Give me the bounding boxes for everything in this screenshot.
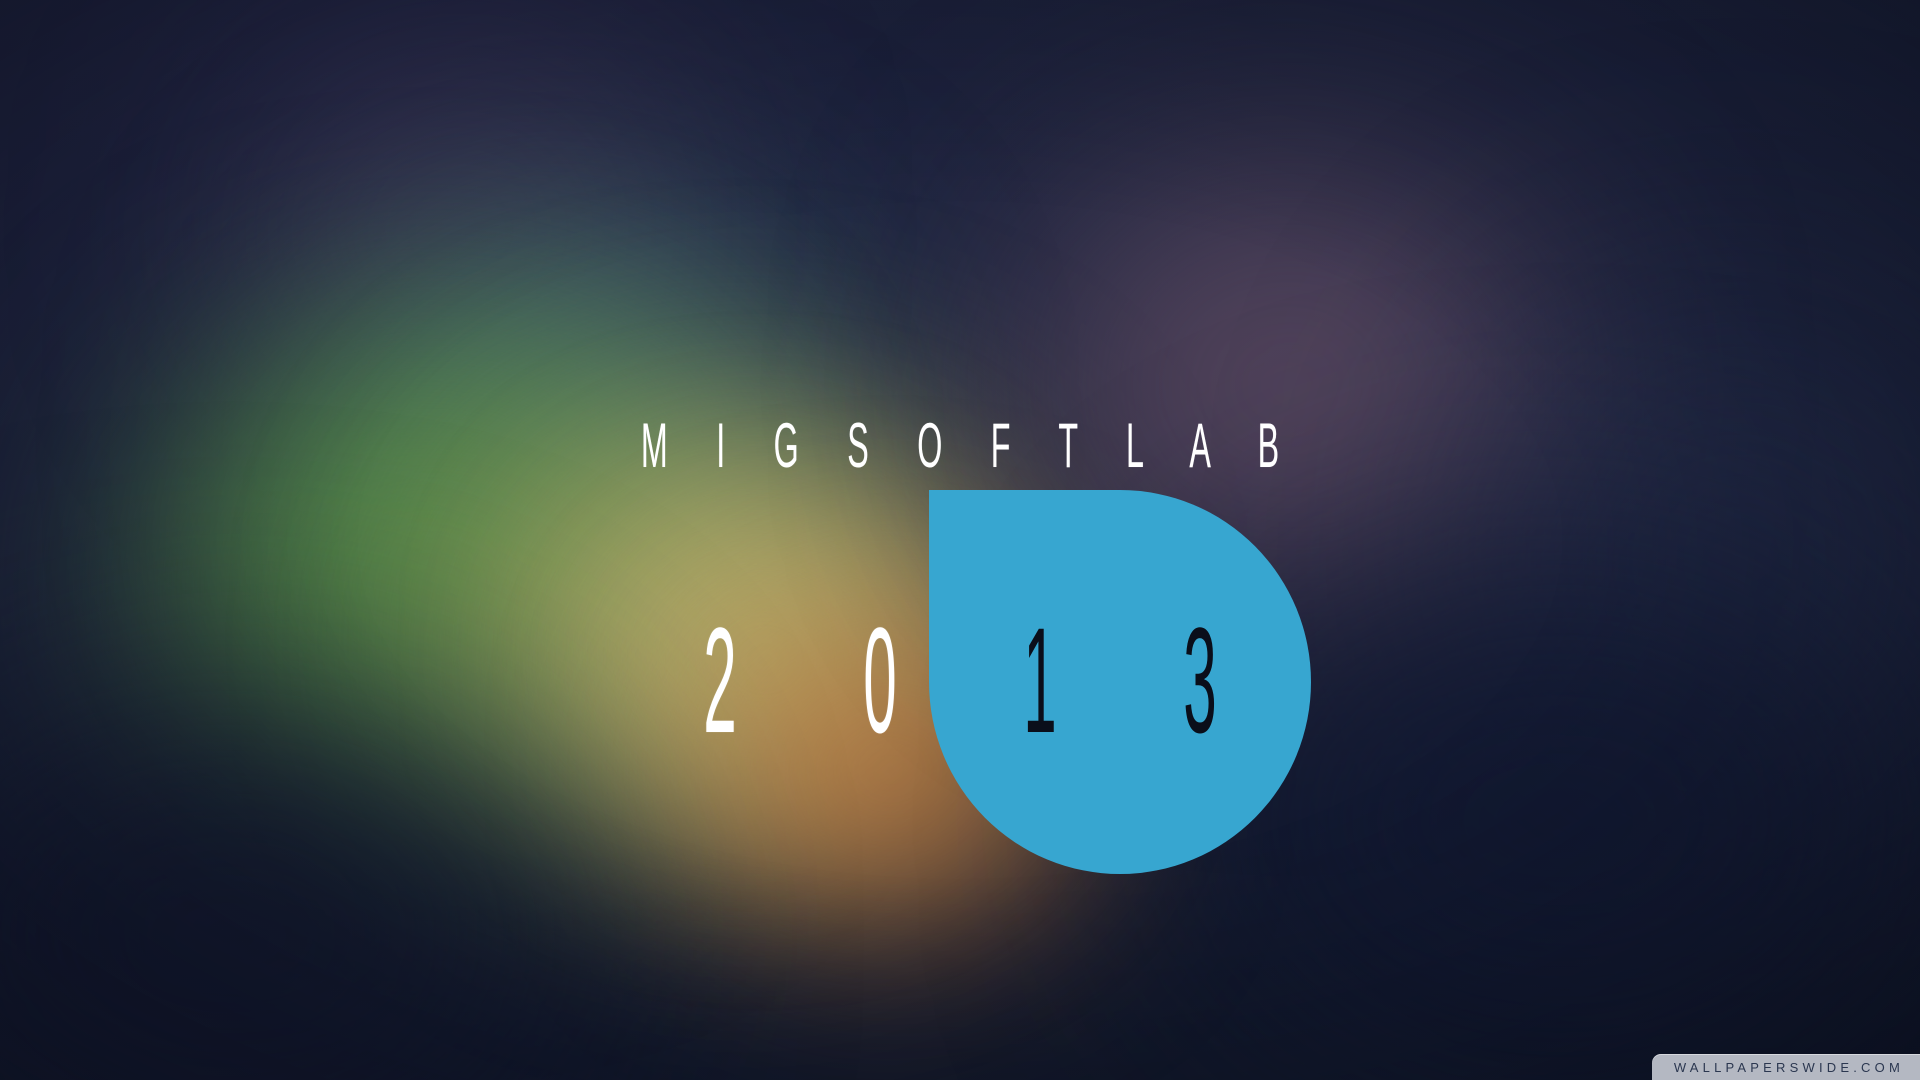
watermark-label: WALLPAPERSWIDE.COM xyxy=(1674,1060,1904,1075)
brand-title: M I G S O F T L A B xyxy=(461,415,1459,478)
bokeh-blob-navy-lower-right xyxy=(1200,560,1920,1080)
teardrop-shape xyxy=(929,490,1311,874)
watermark-badge: WALLPAPERSWIDE.COM xyxy=(1652,1054,1920,1080)
wallpaper-canvas: M I G S O F T L A B 2 0 1 3 WALLPAPERSWI… xyxy=(0,0,1920,1080)
